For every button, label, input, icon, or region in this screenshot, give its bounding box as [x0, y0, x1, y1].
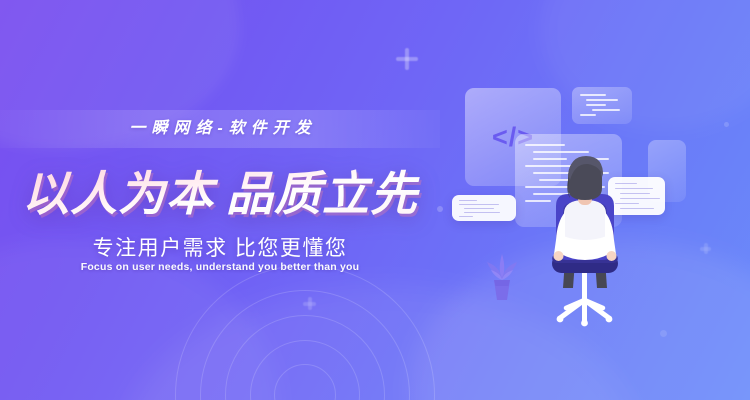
- person-head: [567, 156, 603, 200]
- hero-banner: 一瞬网络-软件开发 以人为本品质立先 专注用户需求 比您更懂您 Focus on…: [0, 0, 750, 400]
- subtitle-chinese: 专注用户需求 比您更懂您: [0, 232, 440, 262]
- code-lines: [452, 195, 516, 221]
- subtitle-english: Focus on user needs, understand you bett…: [0, 261, 440, 273]
- top-code-panel: [572, 87, 632, 124]
- left-white-panel: [452, 195, 516, 221]
- developer-illustration: </>: [430, 0, 750, 400]
- page-title: 以人为本品质立先: [0, 164, 440, 224]
- headline-segment-1: 以人为本: [22, 167, 214, 220]
- brand-name: 一瞬网络-软件开发: [0, 112, 440, 146]
- seated-developer-figure: [530, 150, 640, 330]
- plant-icon: [478, 248, 526, 310]
- headline-segment-2: 品质立先: [226, 167, 418, 220]
- hero-text-block: 一瞬网络-软件开发 以人为本品质立先 专注用户需求 比您更懂您 Focus on…: [0, 0, 440, 400]
- code-lines: [572, 87, 632, 124]
